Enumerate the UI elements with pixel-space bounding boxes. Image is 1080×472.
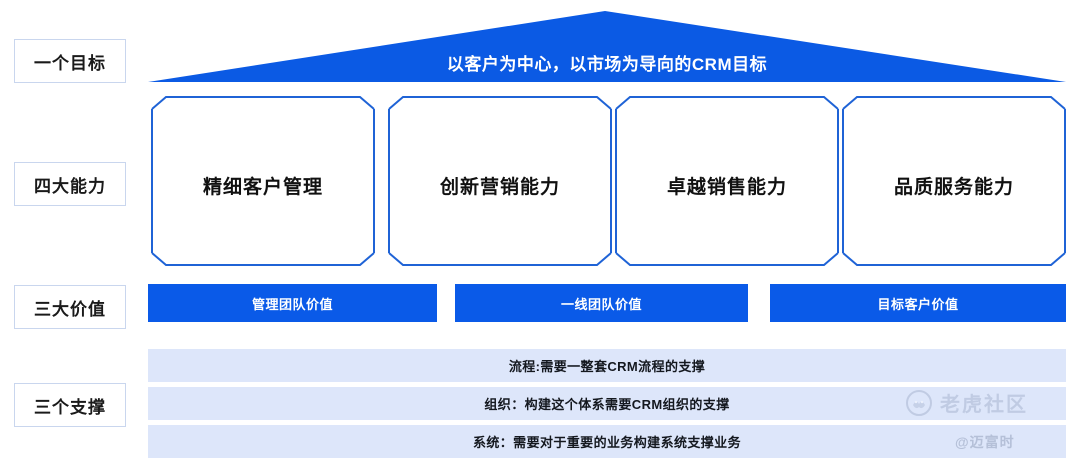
value-bar-target-customer: 目标客户价值 <box>770 284 1066 322</box>
row-label-supports-text: 三个支撑 <box>34 393 106 418</box>
value-bar-target-customer-text: 目标客户价值 <box>877 294 958 313</box>
value-bar-management-team: 管理团队价值 <box>148 284 437 322</box>
pillar-label-sales: 卓越销售能力 <box>616 172 838 198</box>
row-label-goal: 一个目标 <box>14 39 126 83</box>
row-label-abilities: 四大能力 <box>14 162 126 206</box>
support-row-organization-text: 组织：构建这个体系需要CRM组织的支撑 <box>484 394 729 413</box>
row-label-values-text: 三大价值 <box>34 295 106 320</box>
value-bar-frontline-team: 一线团队价值 <box>455 284 748 322</box>
value-bar-management-team-text: 管理团队价值 <box>252 294 333 313</box>
support-row-process-text: 流程:需要一整套CRM流程的支撑 <box>509 356 705 375</box>
crm-pyramid-diagram: 一个目标 四大能力 三大价值 三个支撑 以客户为中心，以市场为导向的CRM目标 … <box>0 0 1080 472</box>
support-row-organization: 组织：构建这个体系需要CRM组织的支撑 <box>148 387 1066 420</box>
row-label-supports: 三个支撑 <box>14 383 126 427</box>
pillar-label-service: 品质服务能力 <box>843 172 1065 198</box>
row-label-values: 三大价值 <box>14 285 126 329</box>
roof-triangle <box>148 11 1066 82</box>
pillar-label-marketing: 创新营销能力 <box>389 172 611 198</box>
row-label-goal-text: 一个目标 <box>34 49 106 74</box>
value-bar-frontline-team-text: 一线团队价值 <box>561 294 642 313</box>
support-row-process: 流程:需要一整套CRM流程的支撑 <box>148 349 1066 382</box>
support-row-system-text: 系统：需要对于重要的业务构建系统支撑业务 <box>473 432 741 451</box>
pillar-label-customer-management: 精细客户管理 <box>152 172 374 198</box>
row-label-abilities-text: 四大能力 <box>34 172 106 197</box>
support-row-system: 系统：需要对于重要的业务构建系统支撑业务 <box>148 425 1066 458</box>
